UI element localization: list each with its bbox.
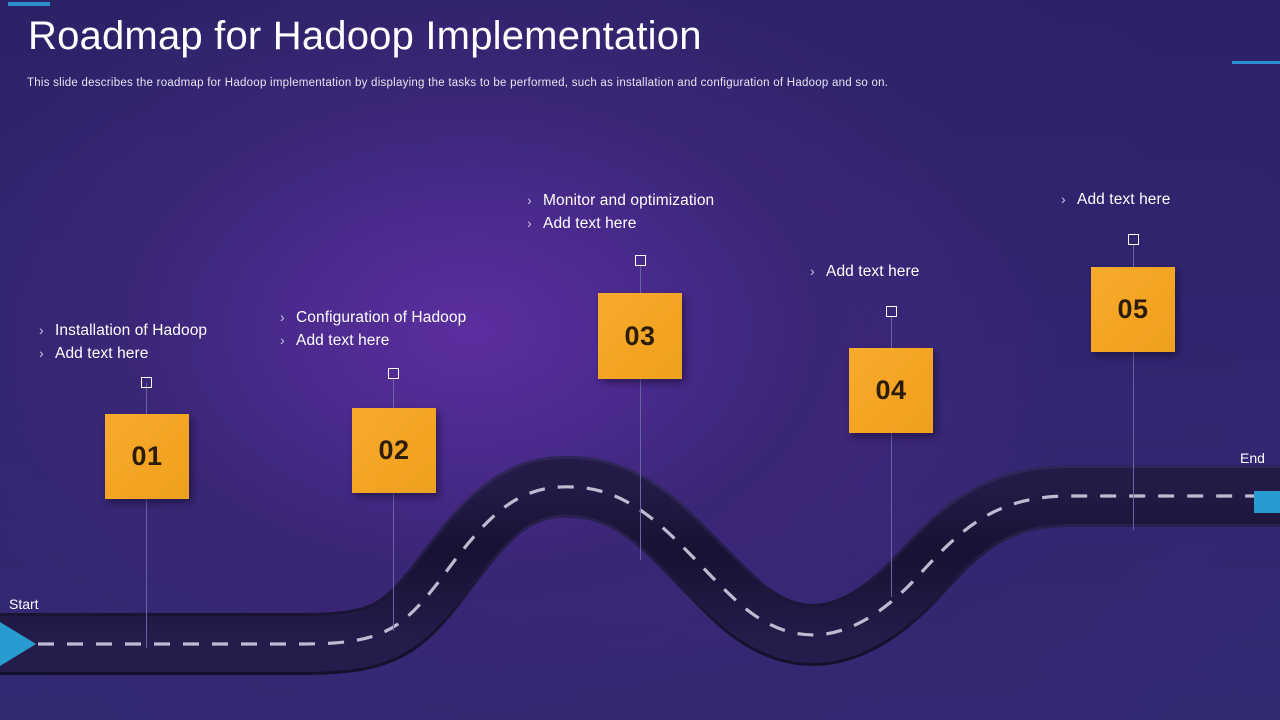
milestone-01-bullets: › Installation of Hadoop › Add text here — [39, 322, 207, 368]
milestone-02-number: 02 — [378, 435, 409, 466]
milestone-03-bullet-1: Monitor and optimization — [543, 192, 714, 210]
milestone-02-bullet-2: Add text here — [296, 332, 390, 350]
list-item: › Configuration of Hadoop — [280, 309, 466, 332]
milestone-04-number: 04 — [875, 375, 906, 406]
list-item: › Add text here — [280, 332, 466, 355]
list-item: › Add text here — [810, 263, 920, 286]
milestone-03-marker — [635, 255, 646, 266]
milestone-03-bullets: › Monitor and optimization › Add text he… — [527, 192, 714, 238]
list-item: › Add text here — [527, 215, 714, 238]
milestone-04-bullets: › Add text here — [810, 263, 920, 286]
chevron-right-icon: › — [39, 322, 55, 338]
start-label: Start — [9, 596, 39, 612]
page-subtitle: This slide describes the roadmap for Had… — [27, 77, 888, 89]
milestone-03-bullet-2: Add text here — [543, 215, 637, 233]
chevron-right-icon: › — [810, 263, 826, 279]
milestone-02-marker — [388, 368, 399, 379]
list-item: › Add text here — [39, 345, 207, 368]
list-item: › Add text here — [1061, 191, 1171, 214]
milestone-05-card[interactable]: 05 — [1091, 267, 1175, 352]
milestone-01-bullet-2: Add text here — [55, 345, 149, 363]
page-title: Roadmap for Hadoop Implementation — [28, 14, 702, 59]
chevron-right-icon: › — [527, 215, 543, 231]
accent-bar-top-left — [8, 2, 50, 6]
end-label: End — [1240, 450, 1265, 466]
end-marker — [1254, 491, 1280, 513]
milestone-01-marker — [141, 377, 152, 388]
slide-canvas: Roadmap for Hadoop Implementation This s… — [0, 0, 1280, 720]
chevron-right-icon: › — [280, 332, 296, 348]
list-item: › Monitor and optimization — [527, 192, 714, 215]
list-item: › Installation of Hadoop — [39, 322, 207, 345]
chevron-right-icon: › — [39, 345, 55, 361]
milestone-02-card[interactable]: 02 — [352, 408, 436, 493]
milestone-05-bullets: › Add text here — [1061, 191, 1171, 214]
chevron-right-icon: › — [1061, 191, 1077, 207]
milestone-03-number: 03 — [624, 321, 655, 352]
milestone-01-card[interactable]: 01 — [105, 414, 189, 499]
milestone-02-bullets: › Configuration of Hadoop › Add text her… — [280, 309, 466, 355]
milestone-05-marker — [1128, 234, 1139, 245]
milestone-01-bullet-1: Installation of Hadoop — [55, 322, 207, 340]
milestone-04-marker — [886, 306, 897, 317]
milestone-04-card[interactable]: 04 — [849, 348, 933, 433]
accent-bar-top-right — [1232, 61, 1280, 64]
chevron-right-icon: › — [280, 309, 296, 325]
milestone-02-bullet-1: Configuration of Hadoop — [296, 309, 466, 327]
milestone-04-bullet-1: Add text here — [826, 263, 920, 281]
milestone-01-number: 01 — [131, 441, 162, 472]
milestone-05-bullet-1: Add text here — [1077, 191, 1171, 209]
chevron-right-icon: › — [527, 192, 543, 208]
milestone-05-number: 05 — [1117, 294, 1148, 325]
milestone-03-card[interactable]: 03 — [598, 293, 682, 379]
